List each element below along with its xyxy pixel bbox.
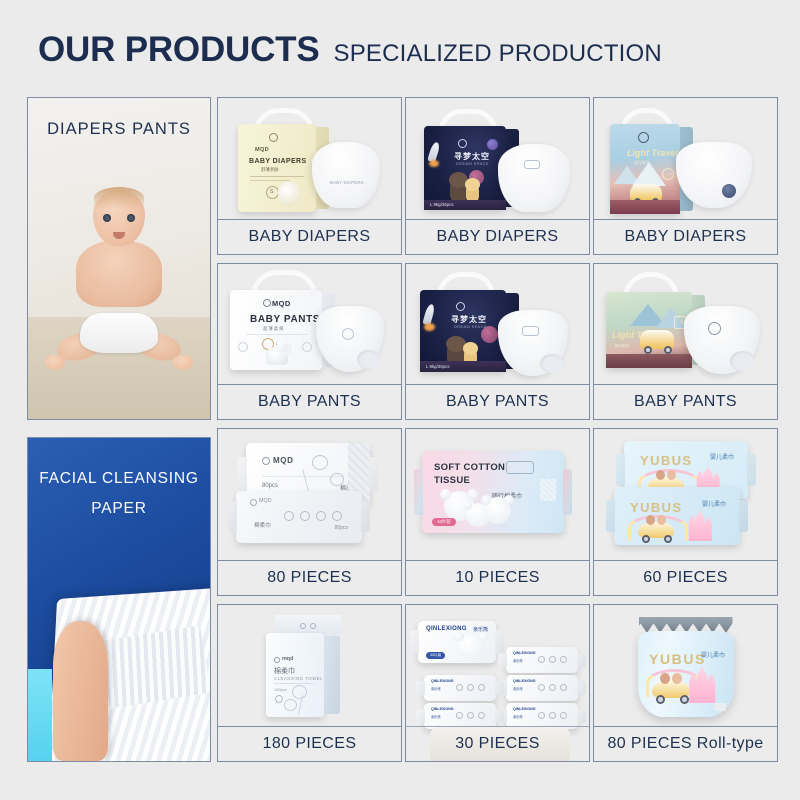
product-card-baby-diapers-cream[interactable]: MQD BABY DIAPERS 舒薄亲肤 S BABY DIAPERS BAB… xyxy=(217,97,402,255)
product-image-baby-diapers-light-travel: Light Travel 轻行系列 L xyxy=(594,98,777,219)
product-label-baby-diapers-cream: BABY DIAPERS xyxy=(218,219,401,254)
product-label-yubus-60: 60 PIECES xyxy=(594,560,777,595)
pack-size-badge: L xyxy=(276,341,278,346)
product-image-cleansing-towel-80: MQD 80pcs 棉柔巾 MQD 棉柔巾 80pcs xyxy=(218,429,401,560)
pack-subtitle-label: 超薄柔爽 xyxy=(263,326,285,332)
product-label-cleansing-towel-80: 80 PIECES xyxy=(218,560,401,595)
product-label-baby-diapers-space: BABY DIAPERS xyxy=(406,219,589,254)
pack-brand-label: QINLEXIONG xyxy=(426,626,467,632)
product-image-baby-pants-space: 寻梦太空 DREAM SPACE L 9kg/36pcs xyxy=(406,264,589,384)
pack-size-badge: L xyxy=(670,171,672,176)
page-subtitle: SPECIALIZED PRODUCTION xyxy=(334,40,662,68)
baby-illustration xyxy=(28,175,210,419)
pack-title-label: BABY DIAPERS xyxy=(249,158,307,165)
pack-title-label: BABY PANTS xyxy=(250,314,320,325)
pack-subtitle-label: DREAM SPACE xyxy=(454,325,487,329)
product-card-cleansing-towel-80[interactable]: MQD 80pcs 棉柔巾 MQD 棉柔巾 80pcs xyxy=(217,428,402,596)
feature-caption-line1: FACIAL CLEANSING xyxy=(28,464,210,494)
product-card-baby-pants-space[interactable]: 寻梦太空 DREAM SPACE L 9kg/36pcs BABY PANTS xyxy=(405,263,590,420)
product-label-baby-pants-white: BABY PANTS xyxy=(218,384,401,419)
product-image-baby-pants-light-travel: Light Travel 轻行系列 L xyxy=(594,264,777,384)
product-label-baby-diapers-light-travel: BABY DIAPERS xyxy=(594,219,777,254)
pack-size-badge: L 9kg/36pcs xyxy=(430,202,454,207)
pack-count-label: 80pcs xyxy=(262,483,278,489)
product-label-cleansing-towel-180: 180 PIECES xyxy=(218,726,401,761)
product-image-baby-pants-white: MQD BABY PANTS 超薄柔爽 L xyxy=(218,264,401,384)
product-card-baby-diapers-light-travel[interactable]: Light Travel 轻行系列 L BABY DIAPERS xyxy=(593,97,778,255)
product-image-soft-cotton-tissue-10: SOFT COTTON TISSUE 随行棉柔巾 10片装 xyxy=(406,429,589,560)
product-card-baby-diapers-space[interactable]: 寻梦太空 DREAM SPACE L 9kg/36pcs BABY DIAPER… xyxy=(405,97,590,255)
product-card-cleansing-towel-180[interactable]: mqd 棉柔巾 CLEANSING TOWEL 180pcs 180 PIECE… xyxy=(217,604,402,762)
pack-brand-label: mqd xyxy=(282,656,293,662)
product-label-qinlexiong-30: 30 PIECES xyxy=(406,726,589,761)
pack-title-label: 棉柔巾 xyxy=(274,666,295,676)
product-image-yubus-60: YUBUS 婴儿柔巾 YUBUS 婴儿柔巾 xyxy=(594,429,777,560)
feature-caption-line2: PAPER xyxy=(28,494,210,524)
pack-size-badge: L 9kg/36pcs xyxy=(426,364,450,369)
pack-brand-label: YUBUS xyxy=(649,651,706,667)
product-card-baby-pants-white[interactable]: MQD BABY PANTS 超薄柔爽 L BABY PANTS xyxy=(217,263,402,420)
pack-subtitle-label: 轻行系列 xyxy=(615,344,629,349)
pack-size-badge: L xyxy=(681,319,683,324)
product-label-baby-pants-space: BABY PANTS xyxy=(406,384,589,419)
feature-caption-diapers-pants: DIAPERS PANTS xyxy=(28,120,210,139)
product-label-baby-pants-light-travel: BABY PANTS xyxy=(594,384,777,419)
pack-subtitle-label: CLEANSING TOWEL xyxy=(274,676,323,681)
product-image-qinlexiong-30: QINLEXIONG 亲乐熊 30片装 QINLEXIONG 亲乐熊 QI xyxy=(406,605,589,726)
pack-title-label: Light Travel xyxy=(627,148,678,158)
product-image-baby-diapers-cream: MQD BABY DIAPERS 舒薄亲肤 S BABY DIAPERS xyxy=(218,98,401,219)
feature-panel-facial-cleansing[interactable]: FACIAL CLEANSING PAPER xyxy=(27,437,211,762)
product-grid: DIAPERS PANTS FACIAL CLEANSING PAPER xyxy=(27,97,778,762)
product-card-yubus-roll-80[interactable]: YUBUS 婴儿柔巾 80 PIECES Roll-type xyxy=(593,604,778,762)
pack-brand-label: MQD xyxy=(273,456,293,465)
pack-subtitle-label: 婴儿柔巾 xyxy=(710,452,734,461)
product-card-baby-pants-light-travel[interactable]: Light Travel 轻行系列 L BABY PANTS xyxy=(593,263,778,420)
product-card-soft-cotton-tissue-10[interactable]: SOFT COTTON TISSUE 随行棉柔巾 10片装 xyxy=(405,428,590,596)
page-header: OUR PRODUCTS SPECIALIZED PRODUCTION xyxy=(38,30,662,70)
cleansing-towel-illustration xyxy=(28,561,210,761)
pack-title-label: 寻梦太空 xyxy=(451,314,487,325)
pack-brand-label: MQD xyxy=(272,299,291,308)
pack-subtitle-label: 婴儿柔巾 xyxy=(701,650,725,659)
pack-size-badge: S xyxy=(270,189,273,195)
pack-subtitle-label: 舒薄亲肤 xyxy=(261,167,279,173)
product-card-yubus-60[interactable]: YUBUS 婴儿柔巾 YUBUS 婴儿柔巾 xyxy=(593,428,778,596)
pack-title-label: 寻梦太空 xyxy=(454,151,490,162)
product-image-yubus-roll-80: YUBUS 婴儿柔巾 xyxy=(594,605,777,726)
product-card-qinlexiong-30[interactable]: QINLEXIONG 亲乐熊 30片装 QINLEXIONG 亲乐熊 QI xyxy=(405,604,590,762)
product-image-baby-diapers-space: 寻梦太空 DREAM SPACE L 9kg/36pcs xyxy=(406,98,589,219)
product-label-soft-cotton-tissue-10: 10 PIECES xyxy=(406,560,589,595)
page-title: OUR PRODUCTS xyxy=(38,30,320,70)
pack-brand-label: MQD xyxy=(255,147,269,153)
product-label-yubus-roll-80: 80 PIECES Roll-type xyxy=(594,726,777,761)
product-image-cleansing-towel-180: mqd 棉柔巾 CLEANSING TOWEL 180pcs xyxy=(218,605,401,726)
pack-subtitle-label: DREAM SPACE xyxy=(456,162,489,166)
feature-panel-diapers-pants[interactable]: DIAPERS PANTS xyxy=(27,97,211,420)
product-catalog-page: OUR PRODUCTS SPECIALIZED PRODUCTION DIAP… xyxy=(0,0,800,800)
pack-brand-label: YUBUS xyxy=(640,453,693,468)
